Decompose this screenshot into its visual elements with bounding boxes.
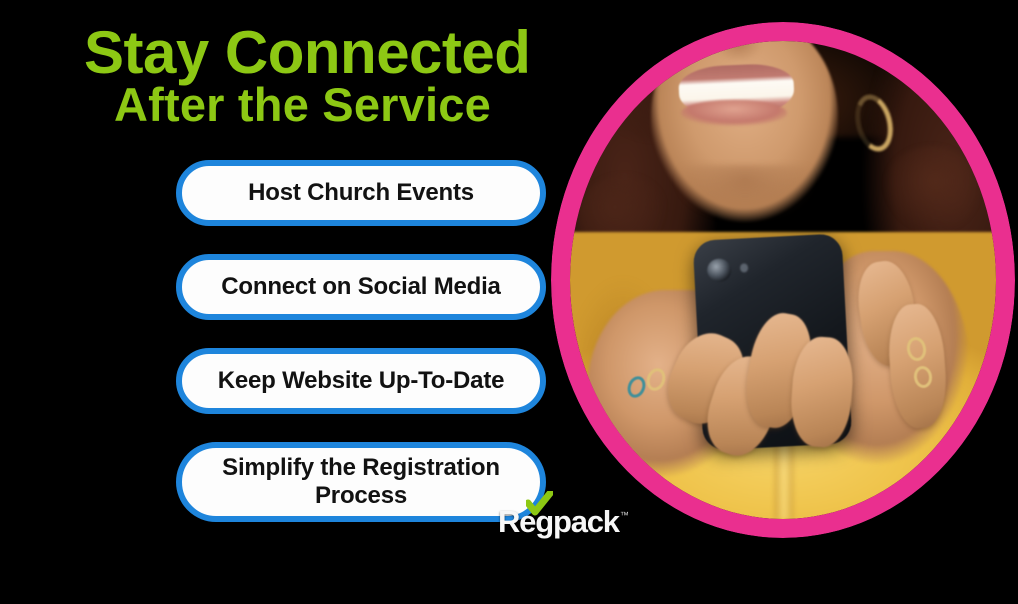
hair-curl [883, 146, 979, 234]
photo-badge [551, 22, 1015, 538]
checkmark-icon [526, 491, 553, 516]
infographic-canvas: Stay Connected After the Service Host Ch… [0, 0, 1018, 604]
pill-label: Connect on Social Media [221, 273, 500, 301]
pill-label: Keep Website Up-To-Date [218, 367, 505, 395]
pill-host-church-events[interactable]: Host Church Events [176, 160, 546, 226]
neck-shadow [664, 165, 826, 241]
pill-label-line-1: Simplify the Registration [222, 454, 500, 481]
regpack-logo[interactable]: Regpack ™ [498, 506, 629, 537]
trademark-symbol: ™ [620, 510, 629, 520]
phone-flash-icon [740, 263, 749, 272]
photo-clip [570, 41, 996, 519]
pill-label: Simplify the Registration Process [222, 454, 500, 510]
pill-label-line-2: Process [315, 482, 407, 509]
regpack-wordmark-text: Regpack [498, 504, 619, 539]
regpack-wordmark: Regpack [498, 506, 619, 537]
feature-pill-list: Host Church Events Connect on Social Med… [176, 160, 546, 522]
headline: Stay Connected After the Service [84, 22, 530, 129]
nose-shadow [711, 41, 766, 60]
headline-line-1: Stay Connected [84, 22, 530, 83]
pill-connect-on-social-media[interactable]: Connect on Social Media [176, 254, 546, 320]
pill-simplify-the-registration-process[interactable]: Simplify the Registration Process [176, 442, 546, 522]
phone-camera-icon [707, 258, 732, 282]
pill-keep-website-up-to-date[interactable]: Keep Website Up-To-Date [176, 348, 546, 414]
headline-line-2: After the Service [114, 81, 530, 129]
lower-lip [681, 100, 788, 126]
pill-label: Host Church Events [248, 179, 474, 207]
